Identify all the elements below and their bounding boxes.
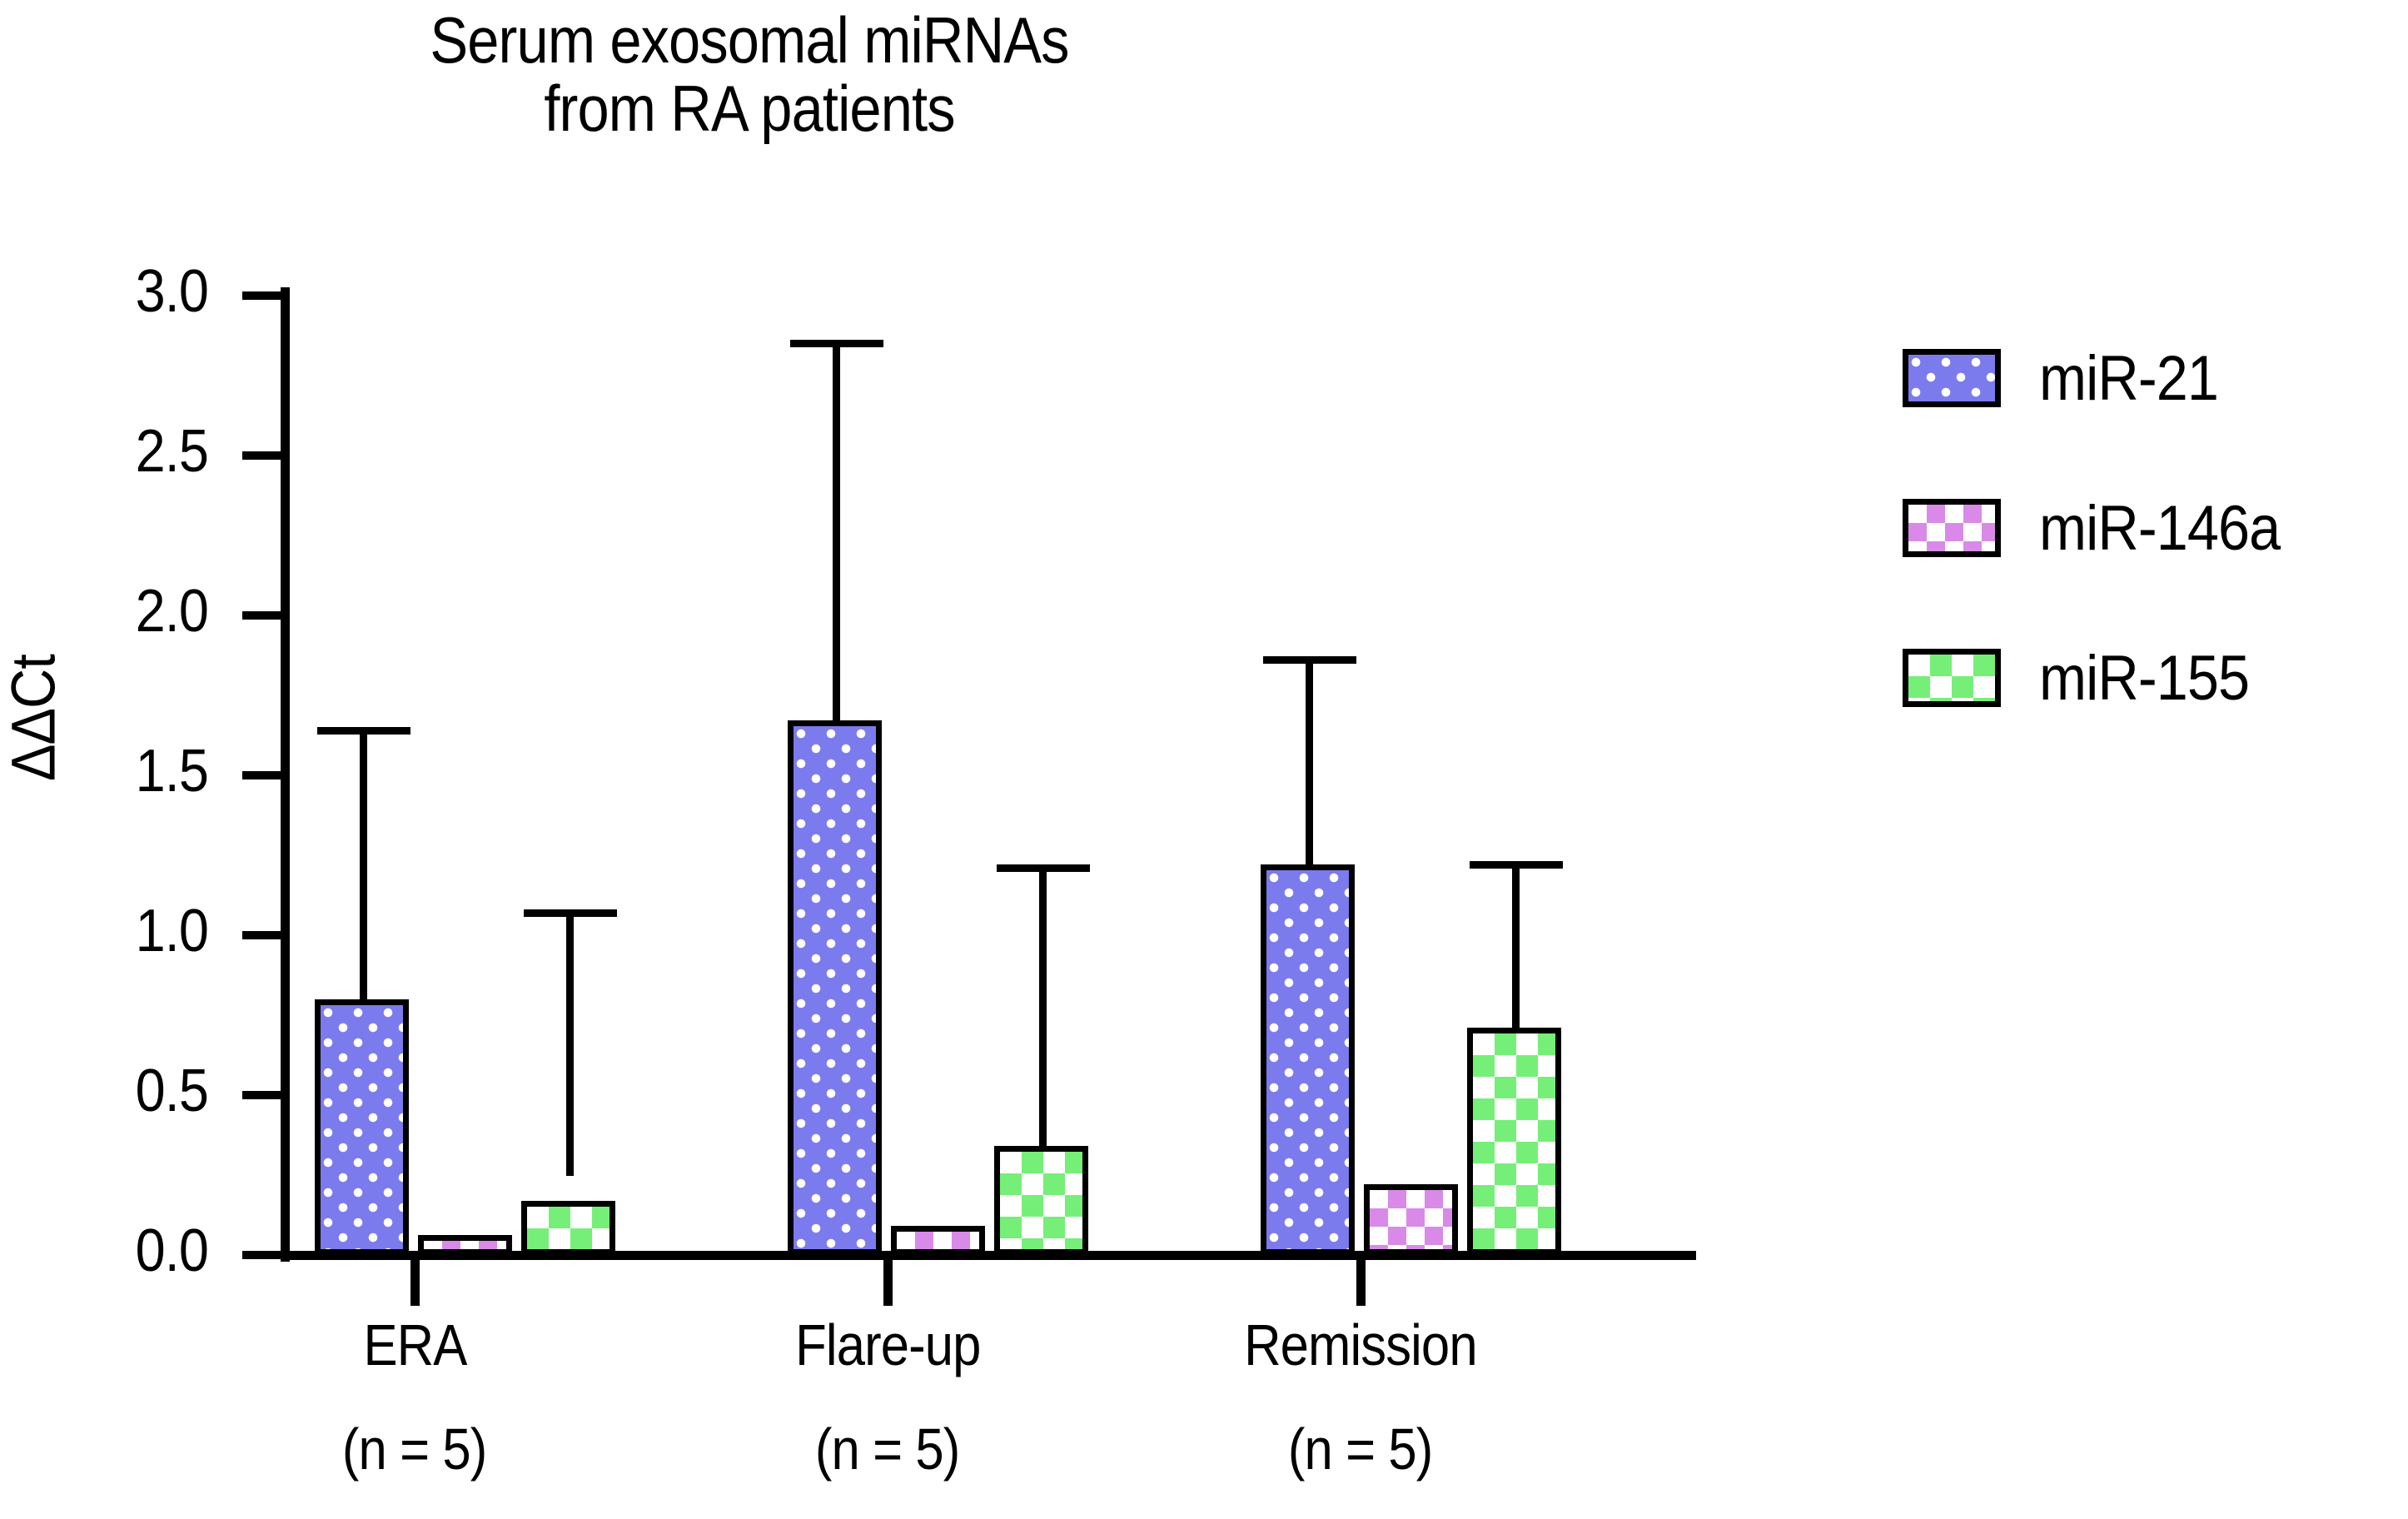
error-bar-cap: [997, 864, 1090, 872]
y-tick-3: [242, 771, 282, 779]
y-tick-label-5: 2.5: [58, 421, 208, 481]
legend-item-mir21: miR-21: [1903, 329, 2306, 427]
y-tick-label-1: 0.5: [58, 1061, 208, 1121]
bar-era-mir146a: [418, 1235, 512, 1255]
y-tick-label-2: 1.0: [58, 901, 208, 961]
x-tick-sublabel-flareup: (n = 5): [713, 1416, 1062, 1482]
legend-item-mir146a: miR-146a: [1903, 479, 2306, 577]
error-bar-stem: [833, 340, 840, 723]
x-tick-label-era: ERA: [240, 1312, 590, 1378]
x-tick-sublabel-era: (n = 5): [240, 1416, 590, 1482]
error-bar-stem: [1306, 656, 1313, 869]
bar-era-mir155: [521, 1201, 615, 1255]
error-bar-cap: [1263, 656, 1356, 664]
error-bar-cap: [317, 727, 410, 735]
legend-label-mir21: miR-21: [2039, 342, 2238, 415]
y-tick-0: [242, 1251, 282, 1259]
bar-remission-mir21: [1261, 864, 1355, 1255]
error-bar-stem: [360, 727, 367, 1002]
y-tick-label-3: 1.5: [58, 741, 208, 801]
y-tick-1: [242, 1091, 282, 1099]
legend-swatch-mir155: [1903, 649, 2001, 707]
error-bar-stem: [1039, 864, 1047, 1152]
error-bar-stem: [566, 909, 574, 1176]
y-tick-5: [242, 451, 282, 460]
x-tick-sublabel-remission: (n = 5): [1186, 1416, 1535, 1482]
bar-flareup-mir21: [788, 720, 882, 1255]
x-tick-remission: [1356, 1258, 1366, 1306]
error-bar-cap: [790, 340, 883, 347]
bar-era-mir21: [315, 999, 409, 1255]
legend-label-mir155: miR-155: [2039, 642, 2272, 715]
y-tick-2: [242, 931, 282, 939]
y-tick-label-6: 3.0: [58, 261, 208, 321]
error-bar-cap: [524, 909, 617, 917]
error-bar-cap: [1470, 861, 1563, 869]
x-tick-label-flareup: Flare-up: [713, 1312, 1062, 1378]
chart-legend: miR-21 miR-146a miR-155: [1903, 329, 2306, 779]
x-tick-flareup: [883, 1258, 893, 1306]
bar-flareup-mir146a: [891, 1226, 985, 1255]
x-tick-label-remission: Remission: [1186, 1312, 1535, 1378]
legend-item-mir155: miR-155: [1903, 629, 2306, 727]
legend-label-mir146a: miR-146a: [2039, 492, 2306, 565]
error-bar-stem: [1512, 861, 1520, 1033]
y-tick-4: [242, 611, 282, 620]
legend-swatch-mir21: [1903, 349, 2001, 407]
x-tick-era: [410, 1258, 420, 1306]
y-tick-label-0: 0.0: [58, 1221, 208, 1281]
y-tick-6: [242, 291, 282, 300]
bar-flareup-mir155: [994, 1146, 1088, 1255]
bar-remission-mir155: [1467, 1028, 1561, 1255]
y-tick-label-4: 2.0: [58, 581, 208, 641]
legend-swatch-mir146a: [1903, 499, 2001, 557]
chart-figure: Serum exosomal miRNAs from RA patients Δ…: [0, 0, 2408, 1519]
bar-remission-mir146a: [1364, 1184, 1458, 1255]
